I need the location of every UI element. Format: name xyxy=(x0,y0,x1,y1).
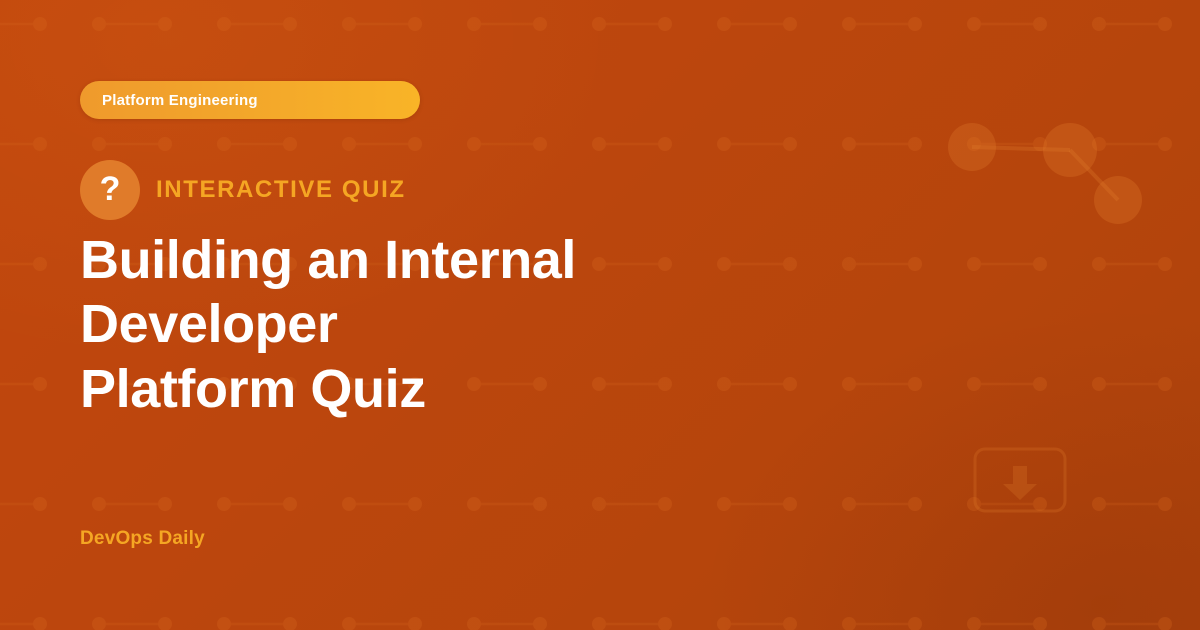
eyebrow-row: ? INTERACTIVE QUIZ xyxy=(80,160,406,220)
category-badge: Platform Engineering xyxy=(80,81,420,119)
brand-footer: DevOps Daily xyxy=(80,528,205,550)
question-mark-icon: ? xyxy=(80,160,140,220)
eyebrow-label: INTERACTIVE QUIZ xyxy=(156,176,406,204)
question-mark-glyph: ? xyxy=(100,172,121,206)
category-badge-label: Platform Engineering xyxy=(102,92,258,109)
page-title-line-2: Platform Quiz xyxy=(80,359,426,419)
page-title: Building an Internal Developer Platform … xyxy=(80,228,780,421)
page-title-line-1: Building an Internal Developer xyxy=(80,230,576,354)
social-share-card: Platform Engineering ? INTERACTIVE QUIZ … xyxy=(0,0,1200,630)
card-content: Platform Engineering ? INTERACTIVE QUIZ … xyxy=(0,0,1200,630)
